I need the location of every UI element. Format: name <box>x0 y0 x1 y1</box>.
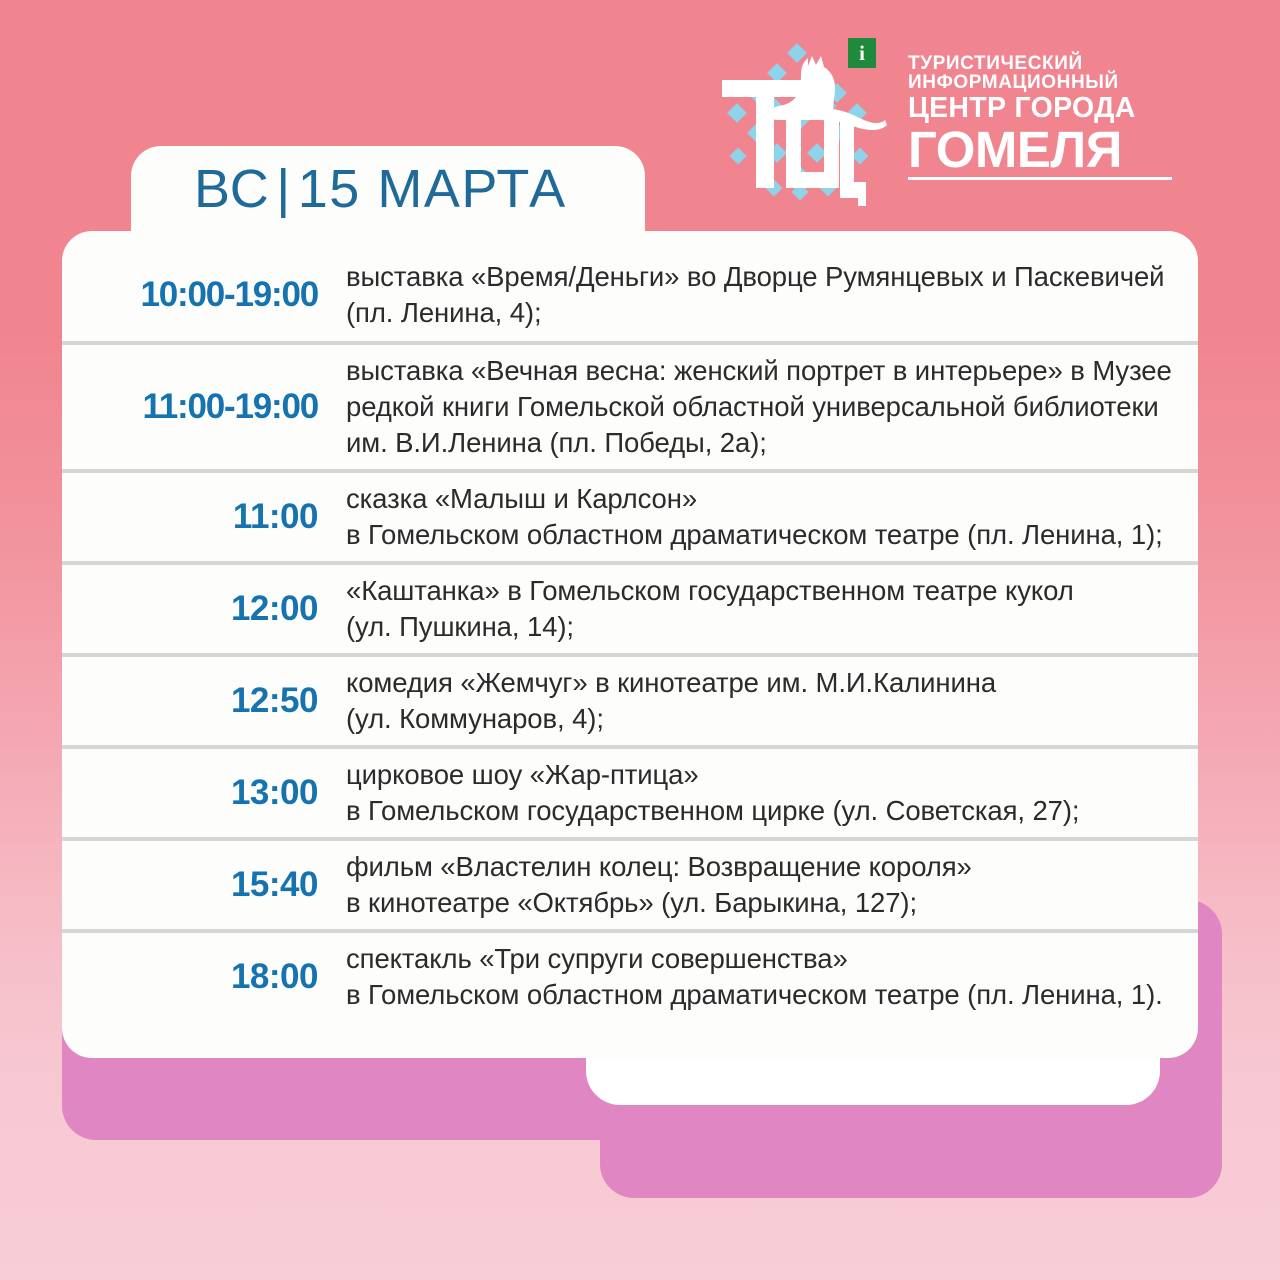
schedule-list: 10:00-19:00выставка «Время/Деньги» во Дв… <box>62 249 1198 1021</box>
event-time: 12:00 <box>62 589 334 629</box>
event-description-line: выставка «Время/Деньги» во Дворце Румянц… <box>346 259 1172 295</box>
event-description: выставка «Вечная весна: женский портрет … <box>334 353 1172 460</box>
schedule-row: 15:40фильм «Властелин колец: Возвращение… <box>62 837 1198 929</box>
event-time: 12:50 <box>62 681 334 721</box>
date-label: 15 МАРТА <box>298 159 567 219</box>
event-schedule-poster: i ТУРИСТИЧЕСКИЙ ИНФОРМАЦИОННЫЙ ЦЕНТР ГОР… <box>0 0 1280 1280</box>
event-description-line: им. В.И.Ленина (пл. Победы, 2а); <box>346 425 1172 461</box>
event-description-line: редкой книги Гомельской областной универ… <box>346 389 1172 425</box>
schedule-row: 10:00-19:00выставка «Время/Деньги» во Дв… <box>62 249 1198 341</box>
title-separator: | <box>270 158 298 220</box>
event-description-line: в кинотеатре «Октябрь» (ул. Барыкина, 12… <box>346 885 1172 921</box>
logo-line-1: ТУРИСТИЧЕСКИЙ <box>908 54 1172 73</box>
event-time: 11:00-19:00 <box>62 387 334 427</box>
schedule-card: 10:00-19:00выставка «Время/Деньги» во Дв… <box>62 231 1198 1058</box>
schedule-row: 13:00цирковое шоу «Жар-птица»в Гомельско… <box>62 745 1198 837</box>
event-description-line: сказка «Малыш и Карлсон» <box>346 481 1172 517</box>
schedule-row: 18:00спектакль «Три супруги совершенства… <box>62 929 1198 1021</box>
logo-line-4: ГОМЕЛЯ <box>908 124 1172 180</box>
event-time: 11:00 <box>62 497 334 537</box>
event-description-line: выставка «Вечная весна: женский портрет … <box>346 353 1172 389</box>
info-badge-icon: i <box>848 38 876 68</box>
logo-wordmark: ТУРИСТИЧЕСКИЙ ИНФОРМАЦИОННЫЙ ЦЕНТР ГОРОД… <box>908 54 1172 180</box>
schedule-row: 11:00-19:00выставка «Вечная весна: женск… <box>62 341 1198 469</box>
event-description-line: (ул. Пушкина, 14); <box>346 609 1172 645</box>
event-description: «Каштанка» в Гомельском государственном … <box>334 573 1172 645</box>
event-time: 10:00-19:00 <box>62 275 334 315</box>
event-description: спектакль «Три супруги совершенства»в Го… <box>334 941 1172 1013</box>
logo-line-2: ИНФОРМАЦИОННЫЙ <box>908 73 1172 92</box>
event-description-line: фильм «Властелин колец: Возвращение коро… <box>346 849 1172 885</box>
event-description: цирковое шоу «Жар-птица»в Гомельском гос… <box>334 757 1172 829</box>
logo-line-3: ЦЕНТР ГОРОДА <box>908 94 1172 124</box>
event-description-line: спектакль «Три супруги совершенства» <box>346 941 1172 977</box>
event-time: 13:00 <box>62 773 334 813</box>
schedule-row: 11:00сказка «Малыш и Карлсон»в Гомельско… <box>62 469 1198 561</box>
event-description: сказка «Малыш и Карлсон»в Гомельском обл… <box>334 481 1172 553</box>
event-time: 18:00 <box>62 957 334 997</box>
event-time: 15:40 <box>62 865 334 905</box>
event-description-line: «Каштанка» в Гомельском государственном … <box>346 573 1172 609</box>
event-description-line: в Гомельском государственном цирке (ул. … <box>346 793 1172 829</box>
date-header-tab: ВС|15 МАРТА <box>131 146 645 232</box>
tic-gomel-logo: i ТУРИСТИЧЕСКИЙ ИНФОРМАЦИОННЫЙ ЦЕНТР ГОР… <box>712 38 1172 210</box>
event-description: выставка «Время/Деньги» во Дворце Румянц… <box>334 259 1172 331</box>
event-description-line: в Гомельском областном драматическом теа… <box>346 977 1172 1013</box>
event-description-line: цирковое шоу «Жар-птица» <box>346 757 1172 793</box>
page-title: ВС|15 МАРТА <box>194 158 567 220</box>
tic-letters-icon <box>722 80 866 206</box>
event-description-line: (ул. Коммунаров, 4); <box>346 701 1172 737</box>
schedule-row: 12:50комедия «Жемчуг» в кинотеатре им. М… <box>62 653 1198 745</box>
event-description-line: в Гомельском областном драматическом теа… <box>346 517 1172 553</box>
event-description-line: комедия «Жемчуг» в кинотеатре им. М.И.Ка… <box>346 665 1172 701</box>
weekday-label: ВС <box>194 159 270 219</box>
event-description: фильм «Властелин колец: Возвращение коро… <box>334 849 1172 921</box>
event-description: комедия «Жемчуг» в кинотеатре им. М.И.Ка… <box>334 665 1172 737</box>
event-description-line: (пл. Ленина, 4); <box>346 295 1172 331</box>
schedule-row: 12:00«Каштанка» в Гомельском государстве… <box>62 561 1198 653</box>
